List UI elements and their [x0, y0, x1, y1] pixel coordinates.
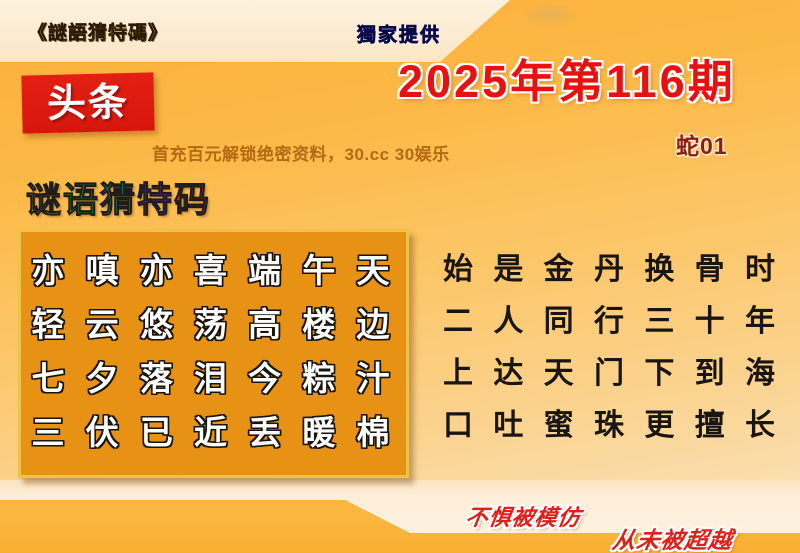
riddle-line: 轻 云 悠 荡 高 楼 边: [21, 298, 406, 352]
riddle-heading-char-5: 码: [174, 181, 211, 220]
promo-text: 首充百元解锁绝密资料，30.cc 30娱乐: [152, 140, 450, 165]
poem-line: 二 人 同 行 三 十 年: [432, 296, 792, 348]
issue-number-title: 2025年第116期: [398, 45, 736, 110]
series-title: 《謎語猜特碼》: [28, 18, 168, 45]
poem-line: 始 是 金 丹 换 骨 时: [432, 244, 792, 296]
zodiac-code-label: 蛇01: [676, 127, 728, 161]
poem-line: 上 达 天 门 下 到 海: [432, 348, 792, 400]
riddle-heading-char-2: 语: [63, 181, 100, 220]
riddle-heading-char-4: 特: [137, 181, 174, 220]
headline-badge: 头条: [21, 72, 154, 133]
poem-block: 始 是 金 丹 换 骨 时 二 人 同 行 三 十 年 上 达 天 门 下 到 …: [432, 244, 792, 452]
riddle-line: 三 伏 已 近 丢 暖 棉: [21, 406, 406, 460]
riddle-line: 亦 嗔 亦 喜 端 午 天: [21, 244, 406, 298]
headline-badge-label: 头条: [47, 83, 130, 124]
riddle-heading-char-3: 猜: [100, 181, 137, 220]
background-watermark-smudge: [520, 2, 580, 28]
slogan-left: 不惧被模仿: [463, 500, 583, 532]
riddle-heading-char-1: 谜: [26, 181, 63, 220]
riddle-box: 亦 嗔 亦 喜 端 午 天 轻 云 悠 荡 高 楼 边 七 夕 落 泪 今 粽 …: [18, 229, 409, 478]
slogan-right: 从未被超越: [610, 521, 735, 553]
exclusive-label: 獨家提供: [357, 20, 441, 47]
riddle-heading: 谜语猜特码: [26, 183, 211, 218]
riddle-line: 七 夕 落 泪 今 粽 汁: [21, 352, 406, 406]
lottery-riddle-poster: 《謎語猜特碼》 獨家提供 2025年第116期 蛇01 头条 首充百元解锁绝密资…: [0, 0, 800, 553]
poem-line: 口 吐 蜜 珠 更 擅 长: [432, 400, 792, 452]
